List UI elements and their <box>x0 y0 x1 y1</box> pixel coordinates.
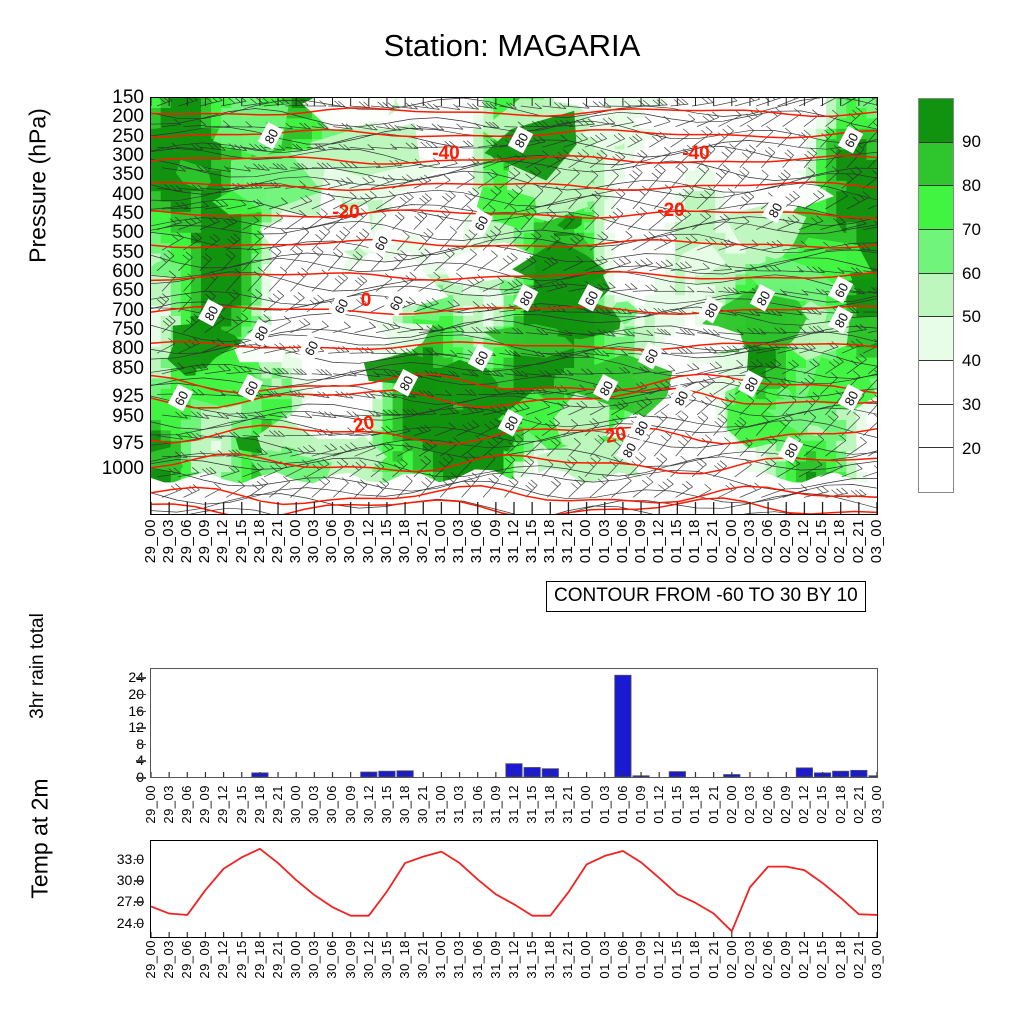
rain-y-tick-mark <box>136 694 146 696</box>
x-tick-label: 31_09 <box>488 940 503 979</box>
x-tick-label: 01_18 <box>687 940 702 979</box>
rain-y-tick-mark <box>136 727 146 729</box>
x-tick-label: 29_12 <box>215 940 230 979</box>
x-tick-label: 01_18 <box>686 519 703 563</box>
x-tick-label: 30_09 <box>341 519 358 563</box>
colorbar-tick: 40 <box>962 351 981 371</box>
x-tick-label: 02_03 <box>742 940 757 979</box>
x-tick-label: 02_06 <box>760 785 775 824</box>
rain-y-tick-labels: 04812162024 <box>96 668 144 778</box>
x-tick-label: 02_15 <box>814 940 829 979</box>
x-tick-label: 31_06 <box>470 785 485 824</box>
x-tick-label: 01_21 <box>704 519 721 563</box>
colorbar-band <box>919 143 953 187</box>
x-tick-label: 02_15 <box>813 519 830 563</box>
colorbar-band <box>919 186 953 230</box>
x-tick-label: 29_18 <box>252 785 267 824</box>
temp-x-tick-labels: 29_0029_0329_0629_0929_1229_1529_1829_21… <box>150 940 878 1000</box>
main-y-tick: 925 <box>112 386 144 408</box>
x-tick-label: 30_21 <box>415 940 430 979</box>
colorbar-tick: 60 <box>962 264 981 284</box>
x-tick-label: 02_21 <box>851 785 866 824</box>
temp-panel <box>150 840 878 938</box>
x-tick-label: 31_00 <box>433 940 448 979</box>
rain-y-tick-mark <box>136 711 146 713</box>
x-tick-label: 03_00 <box>868 519 885 563</box>
x-tick-label: 29_03 <box>161 785 176 824</box>
x-tick-label: 31_21 <box>560 785 575 824</box>
x-tick-label: 02_06 <box>760 940 775 979</box>
x-tick-label: 31_00 <box>433 785 448 824</box>
humidity-colorbar <box>918 98 954 493</box>
main-y-tick: 1000 <box>102 458 144 480</box>
x-tick-label: 31_06 <box>470 940 485 979</box>
x-tick-label: 30_18 <box>397 940 412 979</box>
x-tick-label: 01_09 <box>633 785 648 824</box>
x-tick-label: 31_03 <box>451 940 466 979</box>
x-tick-label: 29_06 <box>179 785 194 824</box>
x-tick-label: 30_09 <box>343 940 358 979</box>
main-y-tick: 850 <box>112 358 144 380</box>
x-tick-label: 31_18 <box>542 785 557 824</box>
colorbar-tick: 70 <box>962 220 981 240</box>
x-tick-label: 01_03 <box>597 785 612 824</box>
x-tick-label: 30_21 <box>414 519 431 563</box>
page-title: Station: MAGARIA <box>0 28 1024 64</box>
colorbar-tick: 90 <box>962 132 981 152</box>
colorbar-band <box>919 99 953 143</box>
cross-section-plot: -40-40-20-200202080806060606080608060806… <box>151 98 877 514</box>
x-tick-label: 01_12 <box>651 940 666 979</box>
svg-text:-20: -20 <box>657 200 684 221</box>
x-tick-label: 30_06 <box>324 940 339 979</box>
svg-text:0: 0 <box>361 290 372 311</box>
x-tick-label: 01_06 <box>615 940 630 979</box>
x-tick-label: 30_09 <box>343 785 358 824</box>
x-tick-label: 31_21 <box>560 940 575 979</box>
figure-root: Station: MAGARIA Pressure (hPa) 15020025… <box>0 0 1024 1024</box>
x-tick-label: 31_15 <box>523 519 540 563</box>
x-tick-label: 29_15 <box>234 940 249 979</box>
x-tick-label: 31_09 <box>487 519 504 563</box>
humidity-colorbar-labels: 9080706050403020 <box>962 98 1018 493</box>
x-tick-label: 29_03 <box>161 940 176 979</box>
x-tick-label: 29_18 <box>252 940 267 979</box>
main-x-tick-labels: 29_0029_0329_0629_0929_1229_1529_1829_21… <box>150 519 878 579</box>
svg-text:-40: -40 <box>432 143 459 164</box>
main-y-tick-labels: 1502002503003504004505005506006507007508… <box>60 97 144 515</box>
x-tick-label: 01_09 <box>632 519 649 563</box>
x-tick-label: 02_18 <box>833 785 848 824</box>
rain-x-tick-labels: 29_0029_0329_0629_0929_1229_1529_1829_21… <box>150 785 878 845</box>
temp-y-tick-labels: 24.027.030.033.0 <box>88 840 144 938</box>
rain-y-tick-mark <box>136 777 146 779</box>
x-tick-label: 29_15 <box>233 519 250 563</box>
x-tick-label: 03_00 <box>869 785 884 824</box>
x-tick-label: 01_09 <box>633 940 648 979</box>
x-tick-label: 31_06 <box>468 519 485 563</box>
x-tick-label: 30_00 <box>287 519 304 563</box>
x-tick-label: 31_12 <box>505 519 522 563</box>
x-tick-label: 29_15 <box>234 785 249 824</box>
x-tick-label: 31_00 <box>432 519 449 563</box>
x-tick-label: 30_15 <box>378 519 395 563</box>
x-tick-label: 01_15 <box>669 940 684 979</box>
main-y-tick: 975 <box>112 433 144 455</box>
rain-y-tick-mark <box>136 744 146 746</box>
x-tick-label: 02_12 <box>795 519 812 563</box>
main-y-axis-label: Pressure (hPa) <box>25 36 52 336</box>
x-tick-label: 02_00 <box>723 519 740 563</box>
rain-y-tick-mark <box>136 760 146 762</box>
x-tick-label: 30_06 <box>323 519 340 563</box>
x-tick-label: 31_09 <box>488 785 503 824</box>
x-tick-label: 01_12 <box>651 785 666 824</box>
temp-y-tick-mark <box>134 901 144 903</box>
x-tick-label: 01_00 <box>578 940 593 979</box>
x-tick-label: 29_09 <box>197 785 212 824</box>
x-tick-label: 31_03 <box>451 785 466 824</box>
x-tick-label: 29_03 <box>160 519 177 563</box>
colorbar-band <box>919 230 953 274</box>
x-tick-label: 01_00 <box>577 519 594 563</box>
temp-y-tick-mark <box>134 880 144 882</box>
x-tick-label: 02_03 <box>742 785 757 824</box>
colorbar-band <box>919 448 953 492</box>
x-tick-label: 01_15 <box>669 785 684 824</box>
x-tick-label: 30_00 <box>288 940 303 979</box>
colorbar-band <box>919 361 953 405</box>
temperature-line-chart <box>151 841 877 937</box>
temp-y-axis-label: Temp at 2m <box>27 739 54 939</box>
x-tick-label: 30_15 <box>379 785 394 824</box>
x-tick-label: 29_09 <box>197 940 212 979</box>
x-tick-label: 29_12 <box>214 519 231 563</box>
x-tick-label: 31_15 <box>524 940 539 979</box>
x-tick-label: 31_03 <box>450 519 467 563</box>
colorbar-tick: 50 <box>962 307 981 327</box>
x-tick-label: 02_12 <box>796 785 811 824</box>
temp-y-tick-mark <box>134 859 144 861</box>
rain-bar-chart <box>151 669 877 777</box>
x-tick-label: 01_12 <box>650 519 667 563</box>
contour-note: CONTOUR FROM -60 TO 30 BY 10 <box>546 581 866 612</box>
x-tick-label: 31_21 <box>559 519 576 563</box>
colorbar-tick: 80 <box>962 176 981 196</box>
colorbar-band <box>919 405 953 449</box>
x-tick-label: 30_03 <box>306 940 321 979</box>
x-tick-label: 29_12 <box>215 785 230 824</box>
x-tick-label: 31_15 <box>524 785 539 824</box>
svg-text:-40: -40 <box>682 143 709 164</box>
x-tick-label: 29_06 <box>179 940 194 979</box>
x-tick-label: 02_00 <box>724 940 739 979</box>
x-tick-label: 02_06 <box>759 519 776 563</box>
colorbar-band <box>919 317 953 361</box>
x-tick-label: 30_03 <box>305 519 322 563</box>
x-tick-label: 30_12 <box>360 519 377 563</box>
x-tick-label: 30_18 <box>396 519 413 563</box>
x-tick-label: 02_18 <box>831 519 848 563</box>
colorbar-band <box>919 274 953 318</box>
x-tick-label: 31_12 <box>506 785 521 824</box>
x-tick-label: 29_21 <box>269 519 286 563</box>
x-tick-label: 02_09 <box>777 519 794 563</box>
x-tick-label: 02_03 <box>741 519 758 563</box>
x-tick-label: 01_18 <box>687 785 702 824</box>
x-tick-label: 01_03 <box>597 940 612 979</box>
x-tick-label: 29_06 <box>178 519 195 563</box>
x-tick-label: 02_21 <box>850 519 867 563</box>
rain-panel <box>150 668 878 778</box>
x-tick-label: 01_15 <box>668 519 685 563</box>
colorbar-tick: 20 <box>962 439 981 459</box>
x-tick-label: 29_21 <box>270 785 285 824</box>
x-tick-label: 01_21 <box>706 940 721 979</box>
x-tick-label: 30_00 <box>288 785 303 824</box>
main-y-tick: 950 <box>112 406 144 428</box>
x-tick-label: 29_00 <box>143 785 158 824</box>
x-tick-label: 02_09 <box>778 785 793 824</box>
temp-y-tick-mark <box>134 923 144 925</box>
x-tick-label: 31_12 <box>506 940 521 979</box>
x-tick-label: 30_12 <box>361 785 376 824</box>
x-tick-label: 30_03 <box>306 785 321 824</box>
svg-text:-20: -20 <box>332 202 359 223</box>
x-tick-label: 03_00 <box>869 940 884 979</box>
x-tick-label: 02_21 <box>851 940 866 979</box>
x-tick-label: 02_15 <box>814 785 829 824</box>
svg-text:20: 20 <box>351 412 376 437</box>
x-tick-label: 01_03 <box>596 519 613 563</box>
x-tick-label: 31_18 <box>541 519 558 563</box>
x-tick-label: 30_15 <box>379 940 394 979</box>
colorbar-tick: 30 <box>962 395 981 415</box>
x-tick-label: 02_18 <box>833 940 848 979</box>
x-tick-label: 01_06 <box>615 785 630 824</box>
x-tick-label: 30_06 <box>324 785 339 824</box>
x-tick-label: 29_00 <box>143 940 158 979</box>
x-tick-label: 30_21 <box>415 785 430 824</box>
x-tick-label: 31_18 <box>542 940 557 979</box>
x-tick-label: 29_09 <box>196 519 213 563</box>
rain-y-axis-label: 3hr rain total <box>27 586 49 746</box>
rain-y-tick-mark <box>136 677 146 679</box>
x-tick-label: 02_00 <box>724 785 739 824</box>
x-tick-label: 29_00 <box>142 519 159 563</box>
x-tick-label: 02_09 <box>778 940 793 979</box>
x-tick-label: 30_18 <box>397 785 412 824</box>
x-tick-label: 30_12 <box>361 940 376 979</box>
cross-section-panel: -40-40-20-200202080806060606080608060806… <box>150 97 878 515</box>
x-tick-label: 01_00 <box>578 785 593 824</box>
x-tick-label: 29_21 <box>270 940 285 979</box>
x-tick-label: 01_06 <box>614 519 631 563</box>
x-tick-label: 29_18 <box>251 519 268 563</box>
x-tick-label: 02_12 <box>796 940 811 979</box>
x-tick-label: 01_21 <box>706 785 721 824</box>
